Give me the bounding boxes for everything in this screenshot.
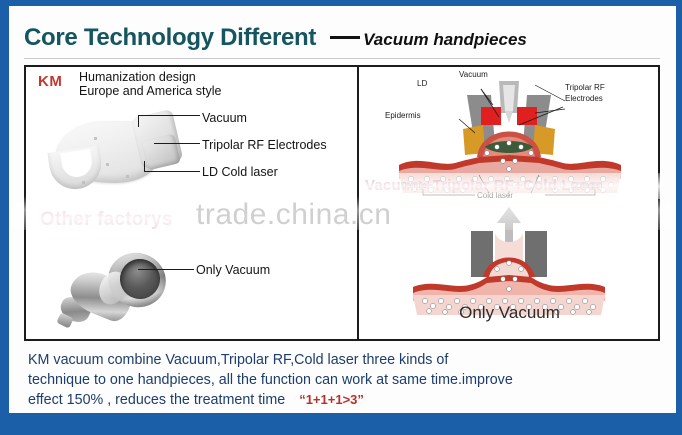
callout-vacuum: Vacuum [202, 105, 327, 132]
panel-other-factorys: Other factorys Only Vacuum [26, 203, 357, 339]
panel-vacuum-rf-laser-diagram: LD Vacuum Tripolar RF Electrodes Epiderm… [359, 67, 660, 203]
comparison-grid: KM Humanization design Europe and Americ… [24, 65, 660, 341]
handpiece-screw-dot [126, 175, 129, 178]
leader-line-vacuum [138, 115, 200, 116]
leader-line-vacuum-stem [138, 115, 139, 127]
footer-highlight: “1+1+1>3” [299, 392, 364, 407]
caption-fade-overlay [359, 173, 660, 199]
frame-border-bottom [0, 413, 682, 435]
white-handpiece-image [48, 107, 198, 199]
label-ld: LD [417, 79, 427, 88]
label-epidermis: Epidermis [385, 111, 421, 120]
handpiece-screw-dot [94, 137, 97, 140]
handpiece-screw-dot [106, 163, 109, 166]
slide-root: Core Technology Different Vacuum handpie… [0, 0, 682, 435]
footer-line-2: technique to one handpieces, all the fun… [28, 370, 658, 390]
footer-line-1: KM vacuum combine Vacuum,Tripolar RF,Col… [28, 350, 658, 370]
handpiece-head-lower [141, 134, 181, 171]
label-electrodes: Electrodes [565, 94, 603, 103]
km-brand-label: KM [38, 73, 62, 90]
leader-line-only-vacuum [138, 269, 194, 270]
title-dash-icon [330, 36, 360, 39]
km-heading: Humanization design Europe and America s… [79, 70, 221, 98]
frame-border-left [0, 0, 9, 435]
footer-line-3-wrap: effect 150% , reduces the treatment time… [28, 390, 658, 410]
page-title-subtitle: Vacuum handpieces [363, 30, 527, 50]
page-title-main: Core Technology Different [24, 24, 316, 52]
frame-border-top [0, 0, 682, 6]
leader-line-ld [144, 171, 200, 172]
panel-km-handpiece: KM Humanization design Europe and Americ… [26, 67, 357, 203]
frame-border-right [676, 0, 682, 435]
callout-tripolar-rf-electrodes: Tripolar RF Electrodes [202, 132, 327, 159]
leader-line-ld-stem [144, 161, 145, 172]
watermark-fade-overlay-left [26, 205, 356, 235]
chrome-nozzle-image [56, 241, 196, 337]
km-callout-list: Vacuum Tripolar RF Electrodes LD Cold la… [202, 105, 327, 186]
page-title: Core Technology Different Vacuum handpie… [24, 24, 664, 56]
label-tripolar-rf: Tripolar RF [565, 83, 605, 92]
footer-description: KM vacuum combine Vacuum,Tripolar RF,Col… [28, 350, 658, 410]
panel-only-vacuum-diagram: Only Vacuum [359, 203, 660, 339]
leader-line-rf [154, 143, 200, 144]
title-divider [24, 58, 660, 59]
callout-only-vacuum: Only Vacuum [196, 263, 270, 277]
handpiece-screw-dot [82, 181, 85, 184]
callout-ld-cold-laser: LD Cold laser [202, 159, 327, 186]
footer-line-3: effect 150% , reduces the treatment time [28, 392, 285, 408]
label-vacuum: Vacuum [459, 70, 488, 79]
only-vacuum-caption: Only Vacuum [359, 303, 660, 323]
